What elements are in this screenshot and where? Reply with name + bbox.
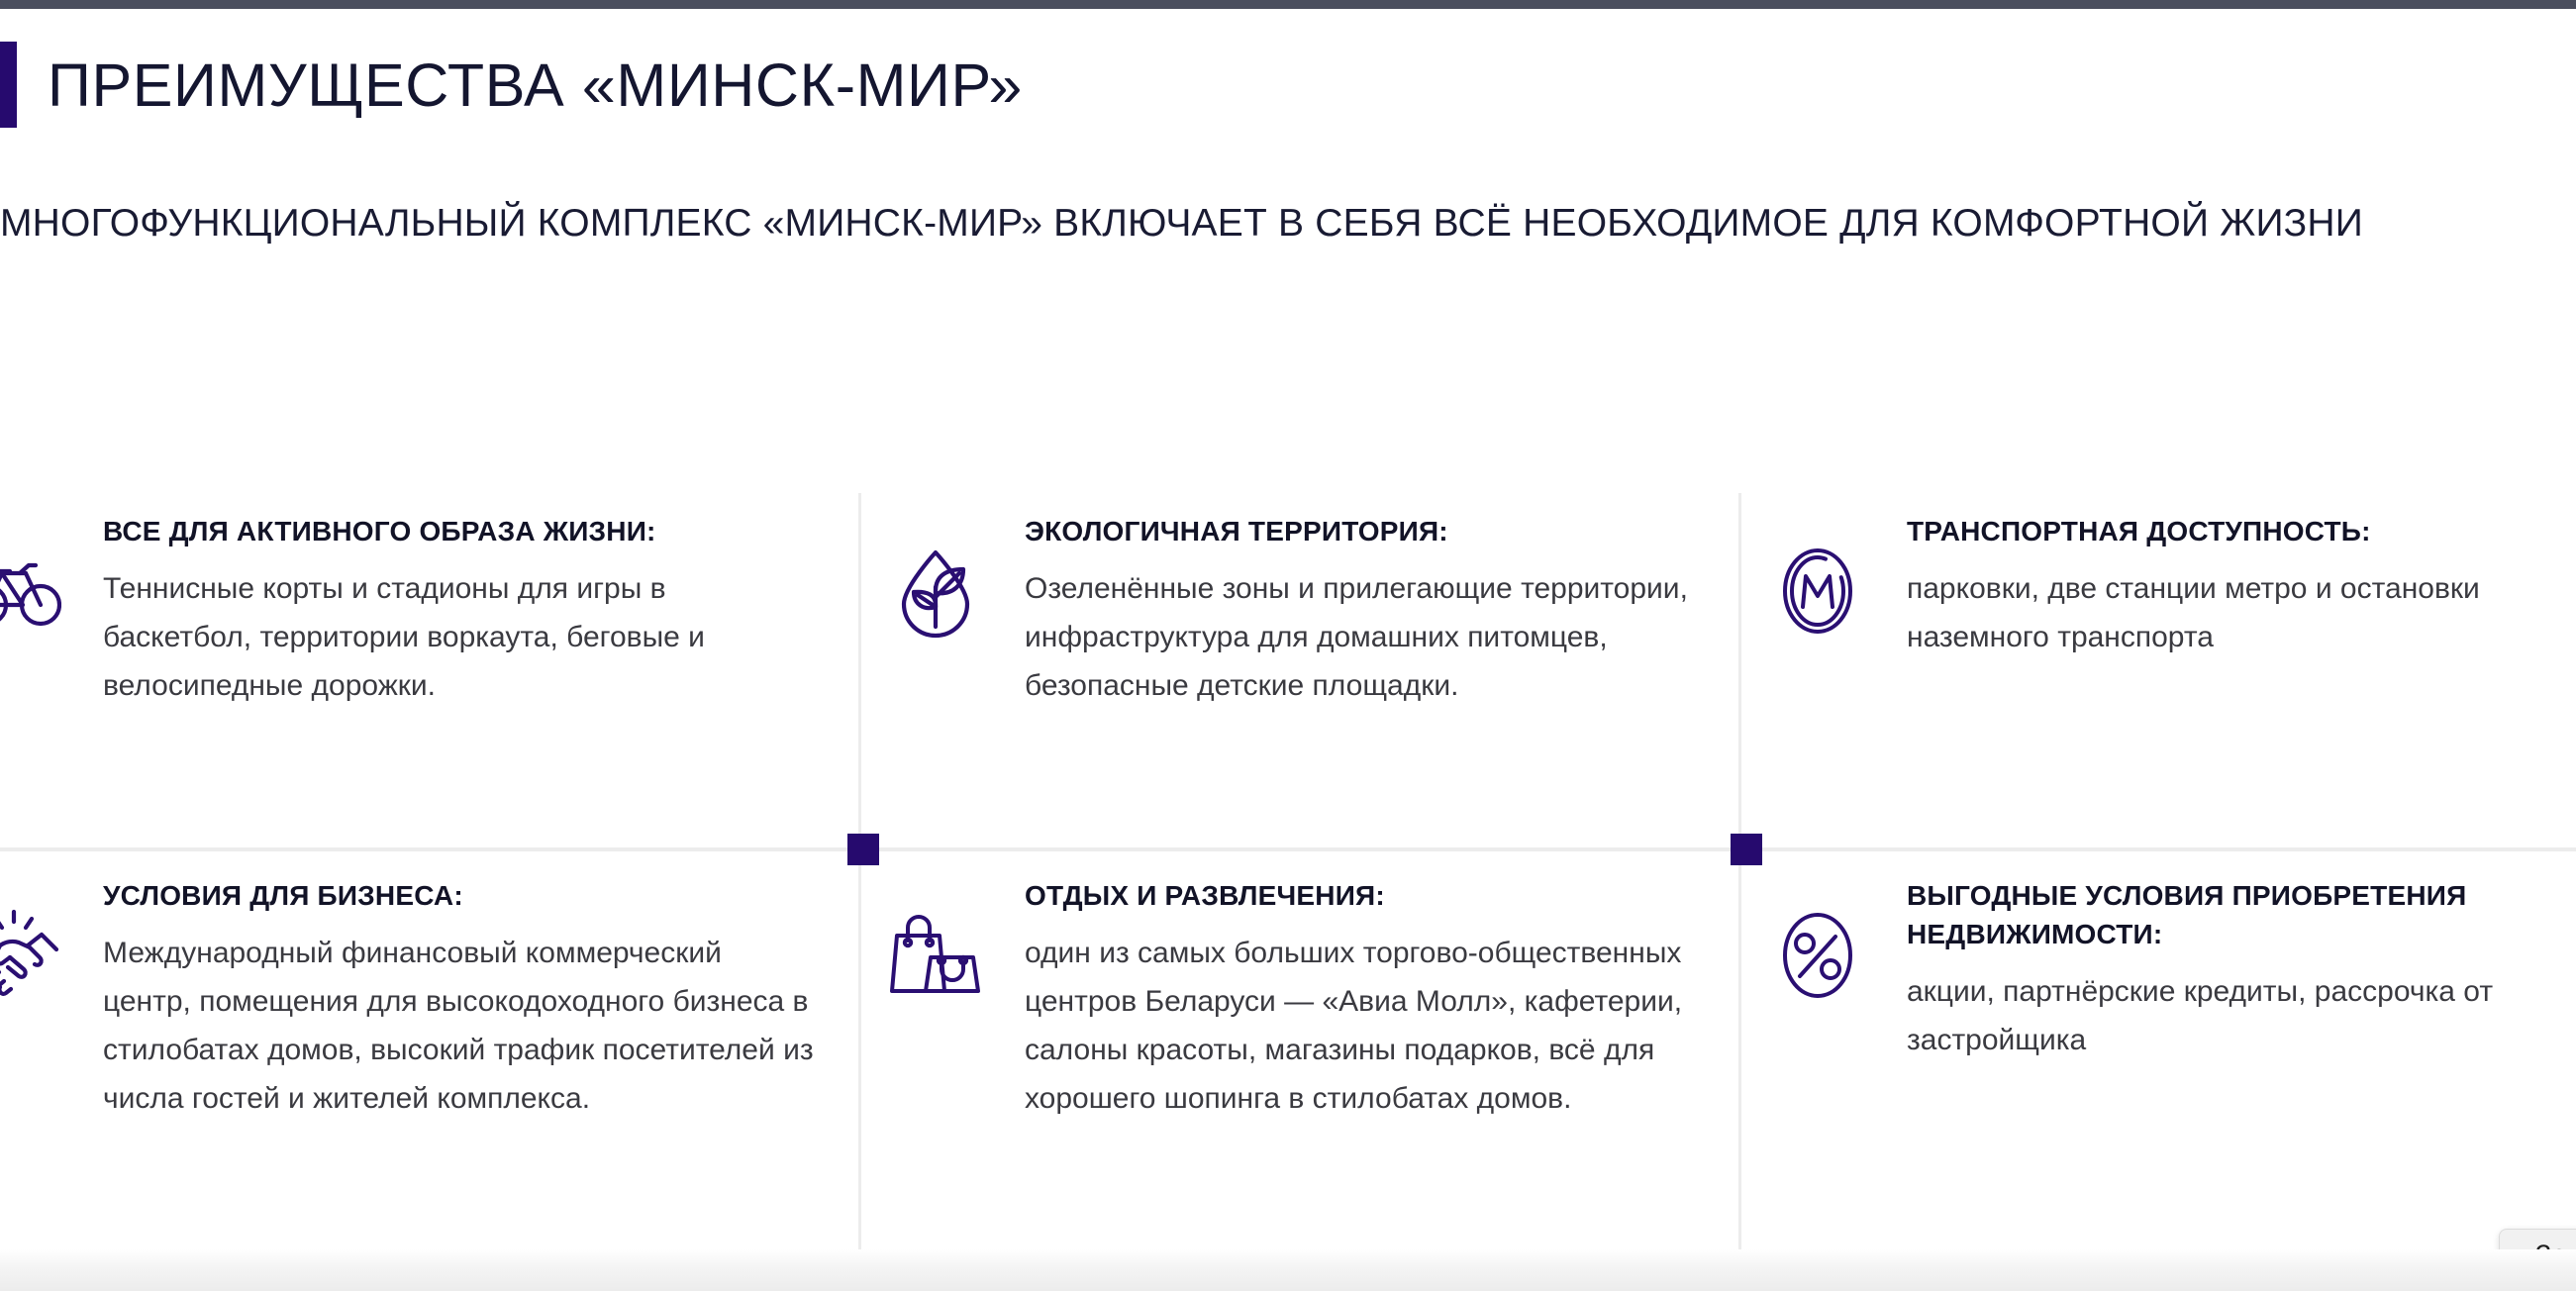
advantage-text: один из самых больших торгово-общественн… [1025,929,1710,1123]
grid-divider-horizontal [0,847,2576,851]
advantage-card-body: УСЛОВИЯ ДЛЯ БИЗНЕСА: Международный финан… [103,870,818,1123]
advantage-card-eco-territory: ЭКОЛОГИЧНАЯ ТЕРРИТОРИЯ: Озеленённые зоны… [888,506,1710,710]
grid-divider-vertical-1 [858,493,861,1270]
advantage-card-body: ЭКОЛОГИЧНАЯ ТЕРРИТОРИЯ: Озеленённые зоны… [1025,506,1710,710]
advantage-text: парковки, две станции метро и остановки … [1907,564,2562,661]
advantage-card-body: ОТДЫХ И РАЗВЛЕЧЕНИЯ: один из самых больш… [1025,870,1710,1123]
advantage-card-body: ТРАНСПОРТНАЯ ДОСТУПНОСТЬ: парковки, две … [1907,506,2562,661]
advantage-title: УСЛОВИЯ ДЛЯ БИЗНЕСА: [103,876,818,915]
eco-leaf-droplet-icon [888,544,983,639]
advantage-title: ОТДЫХ И РАЗВЛЕЧЕНИЯ: [1025,876,1710,915]
advantage-title: ВЫГОДНЫЕ УСЛОВИЯ ПРИОБРЕТЕНИЯ НЕДВИЖИМОС… [1907,876,2562,953]
page-subtitle: МНОГОФУНКЦИОНАЛЬНЫЙ КОМПЛЕКС «МИНСК-МИР»… [0,182,2554,264]
browser-chrome-bar [0,0,2576,9]
advantage-card-body: ВЫГОДНЫЕ УСЛОВИЯ ПРИОБРЕТЕНИЯ НЕДВИЖИМОС… [1907,870,2562,1064]
grid-divider-vertical-2 [1738,493,1741,1270]
advantage-card-business: УСЛОВИЯ ДЛЯ БИЗНЕСА: Международный финан… [0,870,818,1123]
title-accent-bar [0,42,17,128]
advantage-card-body: ВСЕ ДЛЯ АКТИВНОГО ОБРАЗА ЖИЗНИ: Теннисны… [103,506,818,710]
percent-icon [1770,908,1865,1003]
bicycle-icon [0,544,61,639]
shopping-bags-icon [888,908,983,1003]
grid-marker-square-2 [1731,834,1762,865]
advantage-title: ЭКОЛОГИЧНАЯ ТЕРРИТОРИЯ: [1025,512,1710,550]
advantage-title: ВСЕ ДЛЯ АКТИВНОГО ОБРАЗА ЖИЗНИ: [103,512,818,550]
grid-marker-square-1 [847,834,879,865]
page-canvas: ПРЕИМУЩЕСТВА «МИНСК-МИР» МНОГОФУНКЦИОНАЛ… [0,9,2576,1291]
handshake-icon [0,908,61,1003]
advantage-card-purchase-terms: ВЫГОДНЫЕ УСЛОВИЯ ПРИОБРЕТЕНИЯ НЕДВИЖИМОС… [1770,870,2562,1064]
metro-icon [1770,544,1865,639]
advantage-text: Международный финансовый коммерческий це… [103,929,818,1123]
advantage-card-active-lifestyle: ВСЕ ДЛЯ АКТИВНОГО ОБРАЗА ЖИЗНИ: Теннисны… [0,506,818,710]
advantage-text: акции, партнёрские кредиты, рассрочка от… [1907,967,2562,1064]
advantage-text: Теннисные корты и стадионы для игры в ба… [103,564,818,710]
heading-row: ПРЕИМУЩЕСТВА «МИНСК-МИР» [0,34,2576,141]
page-title: ПРЕИМУЩЕСТВА «МИНСК-МИР» [48,34,1023,137]
page-bottom-fade [0,1249,2576,1291]
advantage-text: Озеленённые зоны и прилегающие территори… [1025,564,1710,710]
advantage-card-leisure: ОТДЫХ И РАЗВЛЕЧЕНИЯ: один из самых больш… [888,870,1710,1123]
advantage-card-transport: ТРАНСПОРТНАЯ ДОСТУПНОСТЬ: парковки, две … [1770,506,2562,661]
advantage-title: ТРАНСПОРТНАЯ ДОСТУПНОСТЬ: [1907,512,2562,550]
advantages-grid: ВСЕ ДЛЯ АКТИВНОГО ОБРАЗА ЖИЗНИ: Теннисны… [0,484,2576,1266]
